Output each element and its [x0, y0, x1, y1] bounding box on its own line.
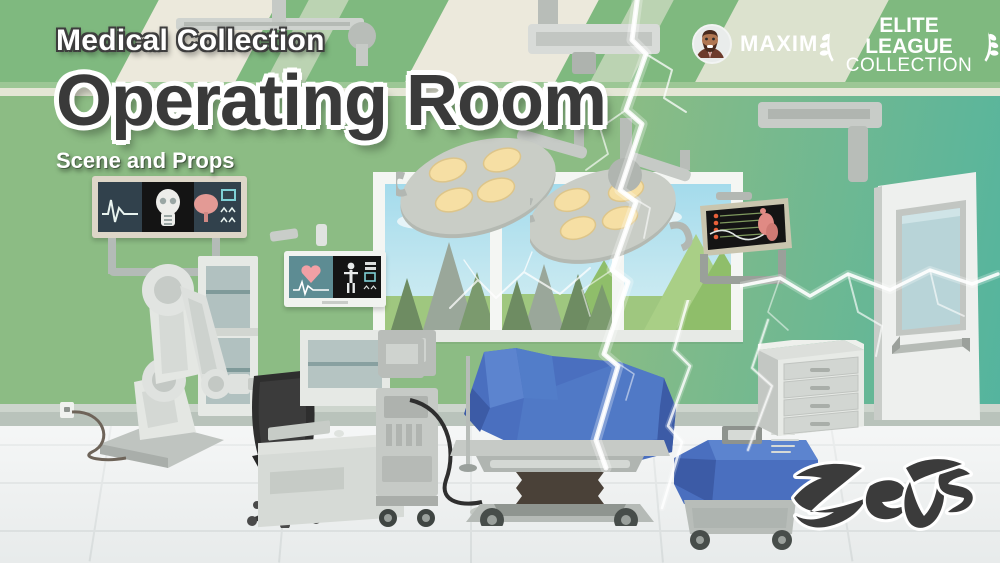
wall-dispenser — [316, 224, 327, 246]
bearded-man-avatar-icon — [692, 24, 732, 64]
laurel-branch-right-icon — [981, 26, 1000, 66]
subtitle-text: Scene and Props — [56, 148, 235, 174]
laurel-branch-left-icon — [818, 26, 837, 66]
outlet-cable — [70, 406, 140, 466]
surgical-light-right-joint — [608, 158, 642, 192]
collection-text: ELITE LEAGUE COLLECTION — [842, 16, 976, 76]
operating-room-artwork: Medical Collection Operating Room Scene … — [0, 0, 1000, 563]
surgical-light-right[interactable] — [530, 150, 770, 280]
drawer-cabinet[interactable] — [758, 340, 864, 436]
imaging-monitor-arm-right — [778, 250, 786, 280]
eyebrow-text: Medical Collection — [56, 24, 325, 58]
collection-badge[interactable]: ELITE LEAGUE COLLECTION — [818, 16, 1000, 76]
exit-door[interactable] — [874, 170, 986, 426]
zeus-watermark — [786, 452, 976, 544]
page-title: Operating Room — [56, 60, 606, 142]
ceiling-boom-arm-right — [752, 96, 912, 206]
cart-monitor[interactable] — [380, 338, 424, 378]
mouse[interactable] — [334, 430, 344, 437]
operating-table[interactable] — [420, 336, 690, 526]
author-name: MAXIM — [740, 31, 818, 57]
xray-lightbox-wall[interactable] — [92, 176, 247, 238]
collection-line-2: COLLECTION — [842, 57, 976, 76]
author-badge[interactable]: MAXIM — [692, 24, 818, 64]
collection-line-1: ELITE LEAGUE — [842, 16, 976, 57]
vitals-monitor-wall[interactable] — [284, 251, 386, 307]
